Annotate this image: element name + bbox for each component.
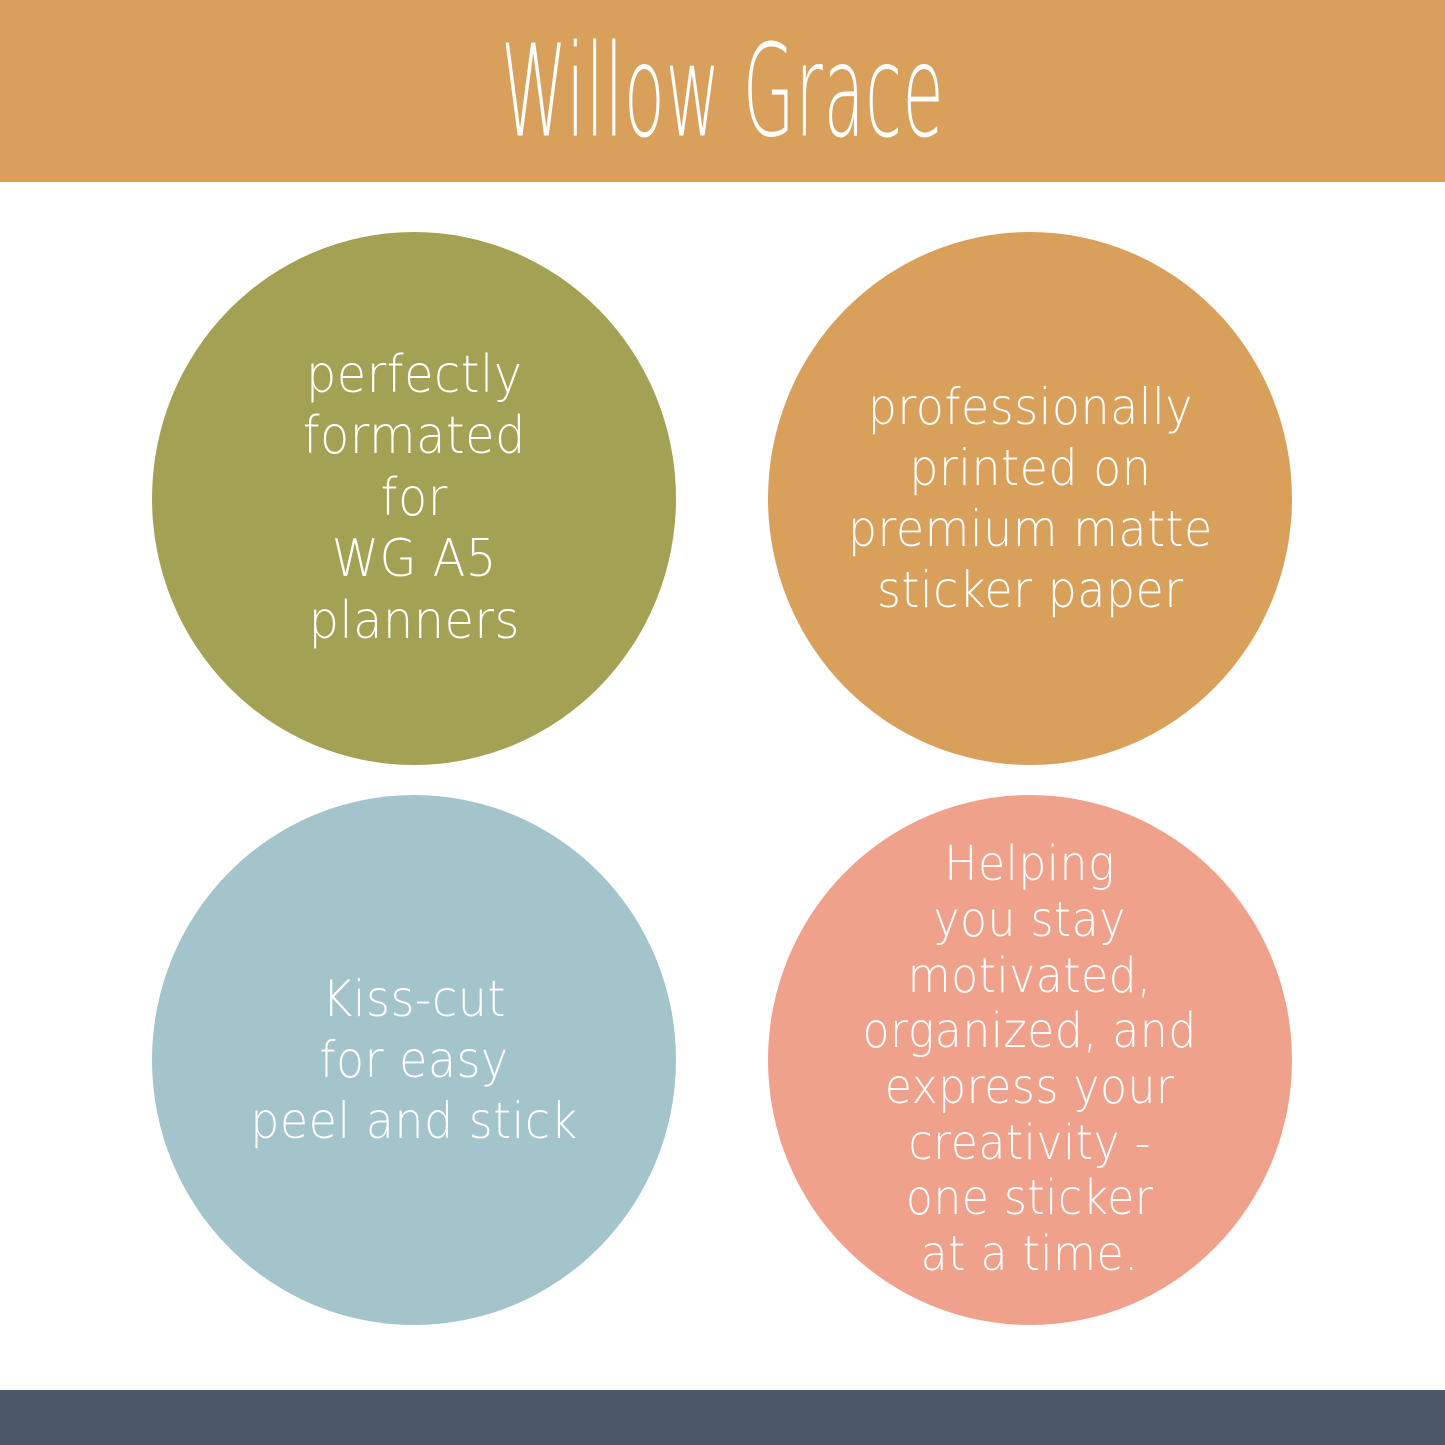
mission-statement-text: Helping you stay motivated, organized, a… bbox=[846, 837, 1213, 1282]
perfectly-formatted-text: perfectly formated for WG A5 planners bbox=[286, 345, 542, 652]
willow-grace-info-card: Willow Grace perfectly formated for WG A… bbox=[0, 0, 1445, 1445]
footer-bar bbox=[0, 1390, 1445, 1445]
professionally-printed-circle: professionally printed on premium matte … bbox=[768, 232, 1292, 765]
mission-statement-circle: Helping you stay motivated, organized, a… bbox=[768, 795, 1292, 1325]
header-banner: Willow Grace bbox=[0, 0, 1445, 182]
kiss-cut-circle: Kiss-cut for easy peel and stick bbox=[152, 795, 676, 1325]
perfectly-formatted-circle: perfectly formated for WG A5 planners bbox=[152, 232, 676, 765]
brand-title: Willow Grace bbox=[501, 29, 944, 156]
kiss-cut-text: Kiss-cut for easy peel and stick bbox=[234, 969, 595, 1152]
professionally-printed-text: professionally printed on premium matte … bbox=[831, 377, 1229, 621]
feature-circles-grid: perfectly formated for WG A5 planners pr… bbox=[0, 182, 1445, 1390]
